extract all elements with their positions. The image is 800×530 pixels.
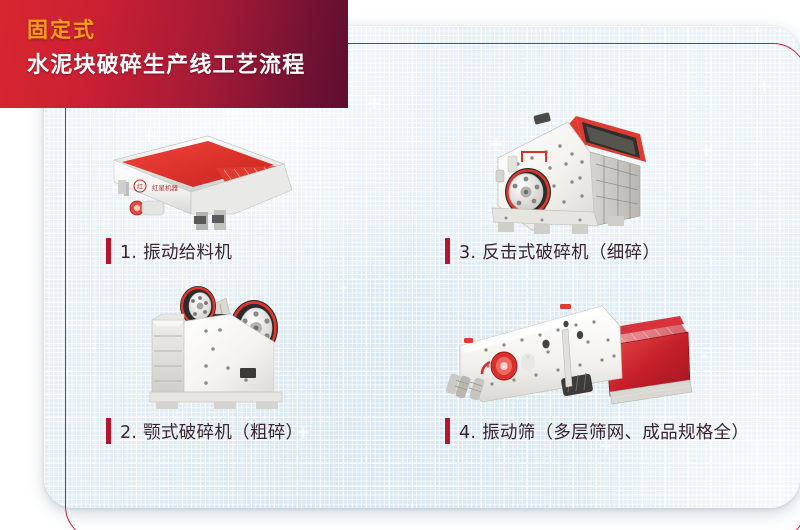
item-jaw-crusher: 2. 颚式破碎机（粗碎） — [0, 260, 400, 470]
infographic-root: 红 红星机器 1. 振动给料机 — [0, 0, 800, 530]
caption-bar — [445, 418, 450, 444]
title-banner: 固定式 水泥块破碎生产线工艺流程 — [0, 0, 348, 108]
item-impact-crusher: 3. 反击式破碎机（细碎） — [400, 0, 800, 280]
banner-subtitle: 固定式 — [27, 17, 348, 45]
vibrating-screen-image — [446, 280, 696, 410]
caption-jaw-crusher: 2. 颚式破碎机（粗碎） — [106, 418, 303, 444]
banner-title: 水泥块破碎生产线工艺流程 — [27, 49, 348, 81]
caption-vibrating-screen: 4. 振动筛（多层筛网、成品规格全） — [445, 418, 749, 444]
item-vibrating-screen: 4. 振动筛（多层筛网、成品规格全） — [400, 260, 800, 470]
caption-bar — [106, 418, 111, 444]
impact-crusher-image — [472, 100, 662, 240]
jaw-crusher-image — [136, 270, 316, 410]
caption-text: 4. 振动筛（多层筛网、成品规格全） — [459, 419, 749, 444]
impact-crusher-svg — [472, 100, 662, 240]
vibrating-feeder-image: 红 红星机器 — [96, 120, 296, 230]
svg-text:红: 红 — [137, 183, 143, 191]
jaw-crusher-svg — [136, 270, 316, 410]
caption-text: 2. 颚式破碎机（粗碎） — [120, 419, 303, 444]
vibrating-screen-svg — [446, 280, 696, 410]
svg-text:红星机器: 红星机器 — [152, 183, 179, 192]
vibrating-feeder-svg: 红 红星机器 — [96, 120, 296, 230]
